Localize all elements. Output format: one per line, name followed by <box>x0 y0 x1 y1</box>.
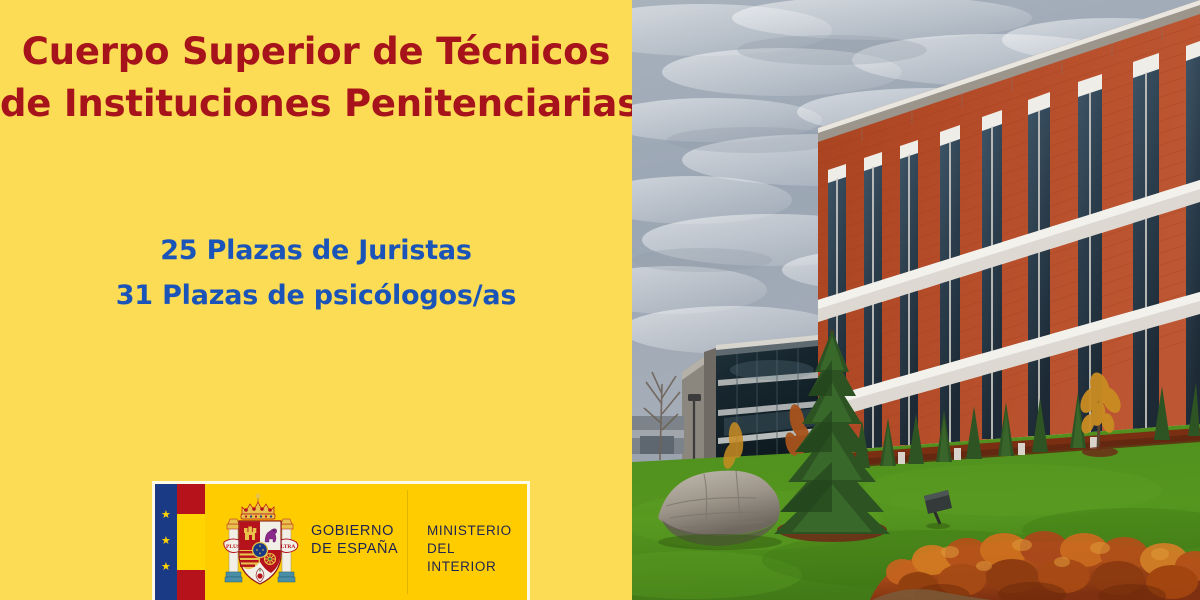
page-title-line-2: de Instituciones Penitenciarias <box>0 78 632 130</box>
spain-flag-stripe-red-bottom <box>177 570 205 600</box>
logo-ministerio-line-1: MINISTERIO <box>427 522 527 540</box>
logo-ministerio-line-2: DEL INTERIOR <box>427 540 527 576</box>
logo-gobierno-line-2: DE ESPAÑA <box>311 540 398 558</box>
positions-psicologos: 31 Plazas de psicólogos/as <box>0 273 632 318</box>
logo-divider <box>407 490 408 594</box>
government-logo: ★ ★ ★ <box>152 481 530 600</box>
government-logo-inner: ★ ★ ★ <box>155 484 527 600</box>
poster-root: Cuerpo Superior de Técnicos de Instituci… <box>0 0 1200 600</box>
positions-summary: 25 Plazas de Juristas 31 Plazas de psicó… <box>0 228 632 318</box>
logo-gobierno-label: GOBIERNO DE ESPAÑA <box>311 522 398 558</box>
spain-flag-stripe-red-top <box>177 484 205 514</box>
spain-flag-stripe-yellow <box>177 514 205 570</box>
page-title: Cuerpo Superior de Técnicos de Instituci… <box>0 26 632 130</box>
eu-spain-flag-bars: ★ ★ ★ <box>155 484 205 600</box>
building-photograph <box>632 0 1200 600</box>
eu-star-icon: ★ <box>161 536 171 547</box>
logo-ministerio-label: MINISTERIO DEL INTERIOR <box>427 522 527 576</box>
page-title-line-1: Cuerpo Superior de Técnicos <box>0 26 632 78</box>
svg-text:PLUS: PLUS <box>226 544 240 550</box>
eu-star-icon: ★ <box>161 562 171 573</box>
positions-juristas: 25 Plazas de Juristas <box>0 228 632 273</box>
logo-gobierno-line-1: GOBIERNO <box>311 522 398 540</box>
eu-star-icon: ★ <box>161 510 171 521</box>
spain-coat-of-arms-icon: PLUS ULTRA <box>215 492 305 592</box>
left-yellow-panel: Cuerpo Superior de Técnicos de Instituci… <box>0 0 632 600</box>
